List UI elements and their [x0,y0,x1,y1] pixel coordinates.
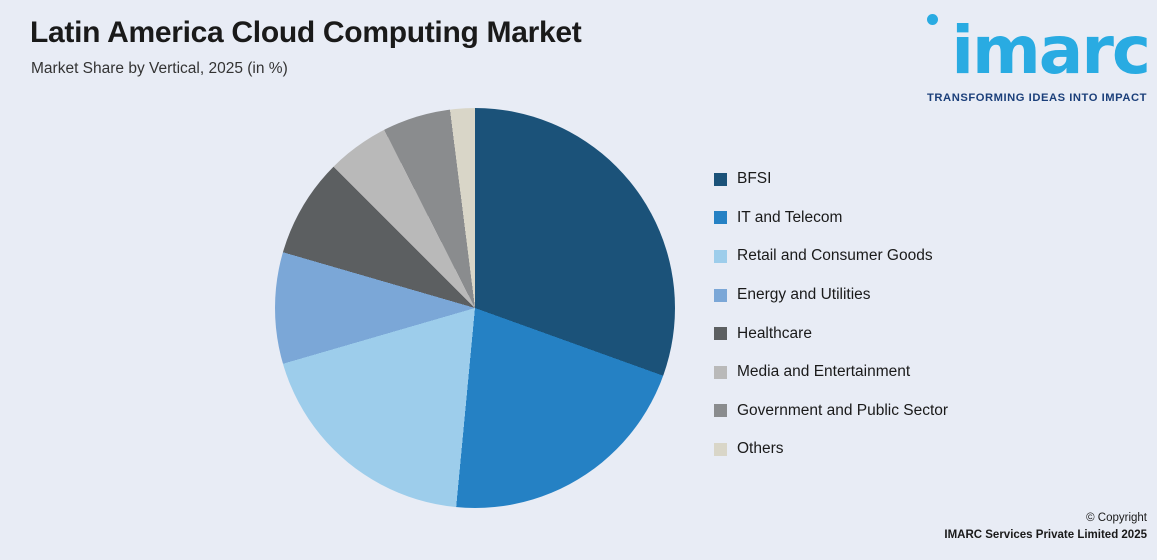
page-subtitle: Market Share by Vertical, 2025 (in %) [31,60,288,78]
legend-swatch-icon [714,211,727,224]
company-text: IMARC Services Private Limited 2025 [944,529,1147,541]
legend-swatch-icon [714,443,727,456]
copyright-text: © Copyright [1086,512,1147,524]
legend-label: IT and Telecom [737,209,842,227]
legend-label: Energy and Utilities [737,286,871,304]
legend-swatch-icon [714,404,727,417]
legend-swatch-icon [714,366,727,379]
legend-swatch-icon [714,173,727,186]
legend-label: Others [737,440,784,458]
legend-item[interactable]: Energy and Utilities [714,276,1114,315]
chart-page: Latin America Cloud Computing Market Mar… [0,0,1157,560]
legend-label: Media and Entertainment [737,363,910,381]
legend-item[interactable]: Others [714,430,1114,469]
pie-slices [275,108,675,508]
legend-item[interactable]: Retail and Consumer Goods [714,237,1114,276]
legend-swatch-icon [714,250,727,263]
legend-item[interactable]: IT and Telecom [714,199,1114,238]
legend-label: Government and Public Sector [737,402,948,420]
legend-label: Retail and Consumer Goods [737,247,933,265]
legend-item[interactable]: Healthcare [714,314,1114,353]
chart-legend: BFSIIT and TelecomRetail and Consumer Go… [714,160,1114,469]
logo-tagline: TRANSFORMING IDEAS INTO IMPACT [927,92,1147,104]
logo-wordmark: imarc [951,18,1149,84]
imarc-logo: imarc TRANSFORMING IDEAS INTO IMPACT [909,14,1149,106]
legend-swatch-icon [714,289,727,302]
legend-label: BFSI [737,170,771,188]
legend-label: Healthcare [737,325,812,343]
legend-item[interactable]: Media and Entertainment [714,353,1114,392]
logo-dot-icon [927,14,938,25]
pie-chart [275,108,675,508]
page-title: Latin America Cloud Computing Market [30,16,581,50]
legend-swatch-icon [714,327,727,340]
legend-item[interactable]: Government and Public Sector [714,392,1114,431]
legend-item[interactable]: BFSI [714,160,1114,199]
